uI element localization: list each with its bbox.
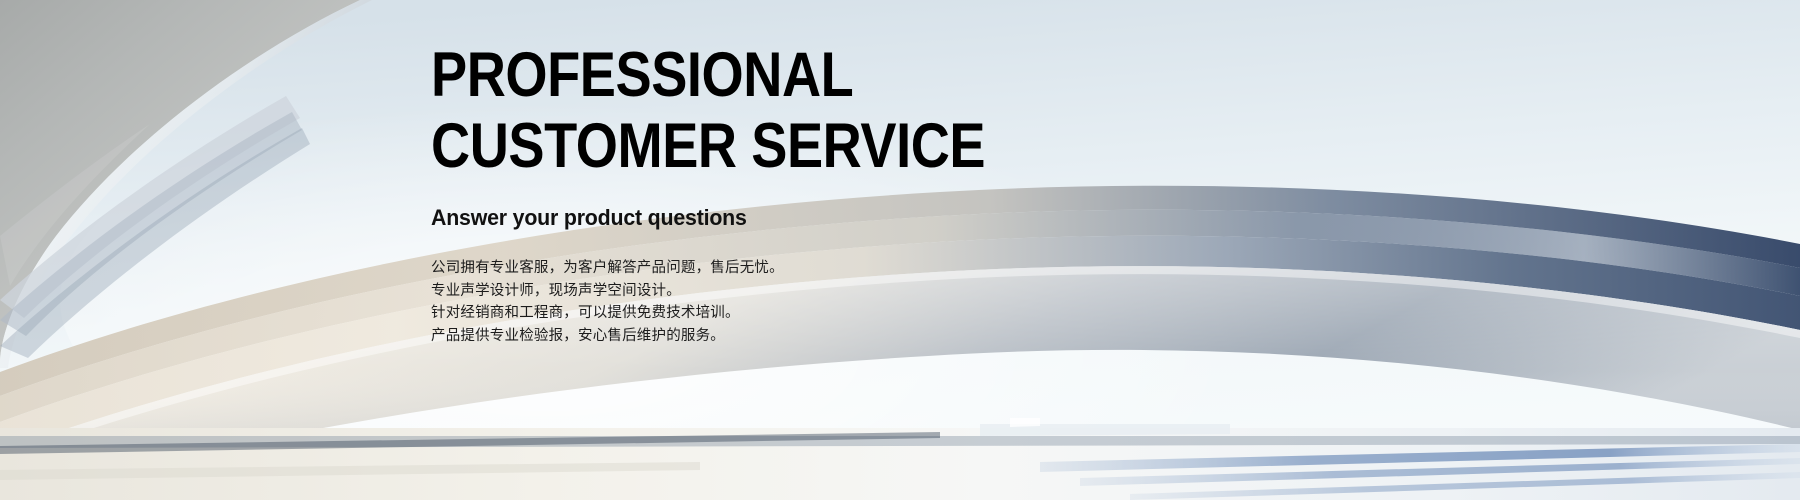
description-line: 公司拥有专业客服，为客户解答产品问题，售后无忧。 — [431, 257, 1211, 280]
description-line: 针对经销商和工程商，可以提供免费技术培训。 — [431, 302, 1211, 325]
headline-line-1: PROFESSIONAL — [431, 44, 1102, 107]
promo-banner: PROFESSIONAL CUSTOMER SERVICE Answer you… — [0, 0, 1800, 500]
headline-line-2: CUSTOMER SERVICE — [431, 115, 1102, 178]
description-line: 产品提供专业检验报，安心售后维护的服务。 — [431, 325, 1211, 348]
description-line: 专业声学设计师，现场声学空间设计。 — [431, 280, 1211, 303]
floor-plane — [0, 418, 1800, 500]
banner-description: 公司拥有专业客服，为客户解答产品问题，售后无忧。 专业声学设计师，现场声学空间设… — [431, 231, 1211, 347]
banner-subtitle: Answer your product questions — [431, 178, 1188, 231]
banner-content: PROFESSIONAL CUSTOMER SERVICE Answer you… — [431, 44, 1211, 347]
